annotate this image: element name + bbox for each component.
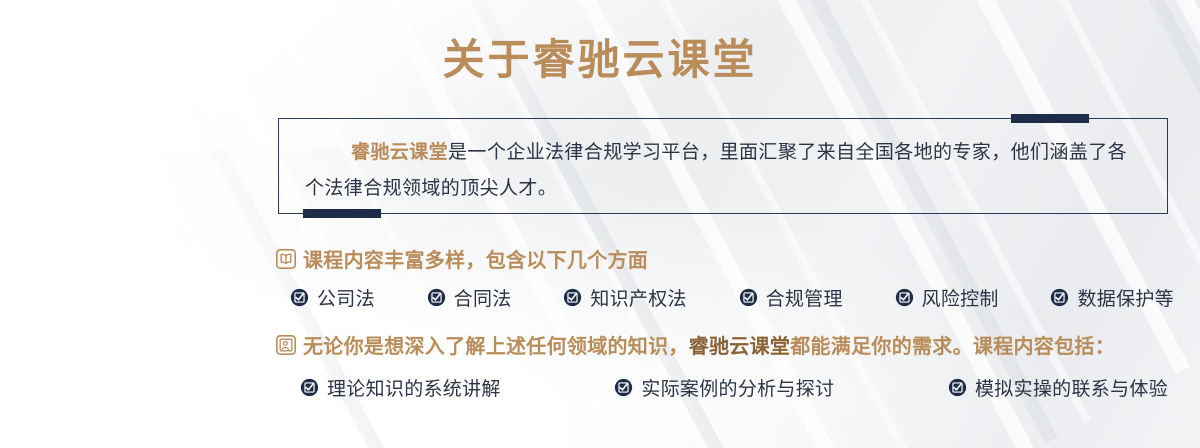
check-circle-icon [563,288,582,307]
list-item-label: 知识产权法 [590,284,687,311]
list-item-label: 实际案例的分析与探讨 [641,374,834,401]
list-item-label: 风险控制 [922,284,999,311]
about-banner: 关于睿驰云课堂 睿驰云课堂是一个企业法律合规学习平台，里面汇聚了来自全国各地的专… [0,0,1200,448]
list-item: 模拟实操的联系与体验 [948,374,1168,401]
portrait-icon [276,335,296,355]
heading-text-after: 都能满足你的需求。课程内容包括： [790,336,1115,358]
check-circle-icon [895,288,914,307]
list-item: 风险控制 [895,284,999,311]
list-item-label: 合同法 [454,284,512,311]
check-circle-icon [614,378,633,397]
content-list: 理论知识的系统讲解 实际案例的分析与探讨 模拟实操的联系与体验 [300,374,1168,401]
list-item-label: 模拟实操的联系与体验 [975,374,1168,401]
page-title: 关于睿驰云课堂 [0,36,1200,84]
book-icon [276,249,296,269]
section-heading-topics: 课程内容丰富多样，包含以下几个方面 [276,244,648,273]
list-item: 合规管理 [739,284,843,311]
list-item: 知识产权法 [563,284,687,311]
list-item: 数据保护等 [1050,284,1174,311]
check-circle-icon [739,288,758,307]
topic-list: 公司法 合同法 知识产权法 合规管理 [290,284,1174,311]
intro-paragraph: 睿驰云课堂是一个企业法律合规学习平台，里面汇聚了来自全国各地的专家，他们涵盖了各… [305,135,1141,207]
intro-brand-name: 睿驰云课堂 [351,142,448,163]
list-item: 公司法 [290,284,375,311]
section-heading-topics-label: 课程内容丰富多样，包含以下几个方面 [303,244,648,273]
heading-brand-name: 睿驰云课堂 [689,336,791,358]
check-circle-icon [1050,288,1069,307]
list-item: 理论知识的系统讲解 [300,374,501,401]
list-item-label: 数据保护等 [1077,284,1174,311]
intro-box-accent-top-right [1011,114,1089,123]
list-item-label: 公司法 [317,284,375,311]
intro-box-accent-bottom-left [303,209,381,218]
section-heading-contents-label: 无论你是想深入了解上述任何领域的知识，睿驰云课堂都能满足你的需求。课程内容包括： [303,330,1115,359]
list-item: 实际案例的分析与探讨 [614,374,834,401]
check-circle-icon [300,378,319,397]
check-circle-icon [427,288,446,307]
list-item-label: 合规管理 [766,284,843,311]
list-item-label: 理论知识的系统讲解 [327,374,501,401]
heading-text-before: 无论你是想深入了解上述任何领域的知识， [303,336,689,358]
section-heading-contents: 无论你是想深入了解上述任何领域的知识，睿驰云课堂都能满足你的需求。课程内容包括： [276,330,1115,359]
list-item: 合同法 [427,284,512,311]
check-circle-icon [290,288,309,307]
check-circle-icon [948,378,967,397]
intro-box: 睿驰云课堂是一个企业法律合规学习平台，里面汇聚了来自全国各地的专家，他们涵盖了各… [278,118,1168,214]
